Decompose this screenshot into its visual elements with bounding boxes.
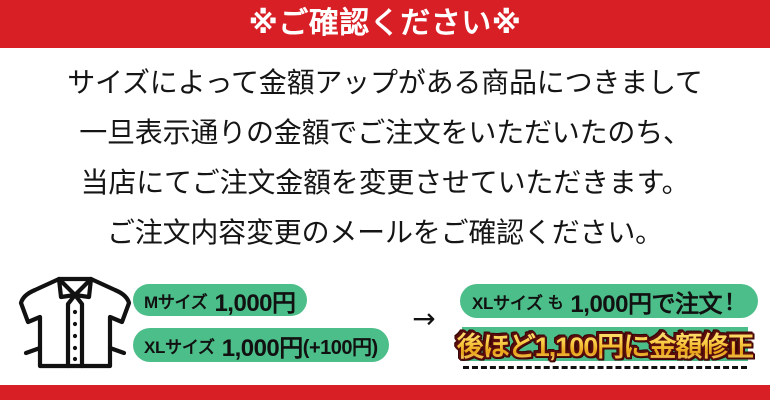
dashed-underline: [463, 366, 747, 369]
notice-line-4: ご注文内容変更のメールをご確認ください。: [0, 208, 770, 258]
dress-shirt-icon: [14, 270, 136, 378]
page-title: ※ご確認ください※: [249, 9, 522, 39]
footer-band: [0, 385, 770, 400]
xl-size-price: 1,000円: [222, 328, 303, 363]
notice-banner: ※ご確認ください※ サイズによって金額アップがある商品につきまして 一旦表示通り…: [0, 0, 770, 400]
xl-size-label: XLサイズ: [144, 333, 215, 358]
m-size-label: Mサイズ: [144, 288, 207, 313]
price-comparison: Mサイズ 1,000円 XLサイズ 1,000円 (+100円) → XLサイズ…: [0, 262, 770, 385]
order-exclamation: ！: [724, 285, 746, 317]
m-size-price: 1,000円: [214, 283, 295, 318]
notice-body: サイズによって金額アップがある商品につきまして 一旦表示通りの金額でご注文をいた…: [0, 58, 770, 258]
notice-line-1: サイズによって金額アップがある商品につきまして: [0, 58, 770, 108]
notice-line-2: 一旦表示通りの金額でご注文をいただいたのち、: [0, 108, 770, 158]
price-pill-m-size: Mサイズ 1,000円: [133, 284, 307, 316]
notice-line-3: 当店にてご注文金額を変更させていただきます。: [0, 158, 770, 208]
price-pill-xl-size: XLサイズ 1,000円 (+100円): [133, 328, 389, 362]
order-price-text: 1,000円で注文: [570, 284, 722, 319]
arrow-right-icon: →: [404, 306, 444, 332]
price-correction-text: 後ほど1,100円に金額修正: [457, 325, 754, 364]
price-correction-highlight: 後ほど1,100円に金額修正: [462, 327, 748, 361]
header-band: ※ご確認ください※: [0, 0, 770, 48]
order-xl-size-label: XLサイズ: [472, 289, 543, 314]
order-pill-xl-size: XLサイズ も 1,000円で注文 ！: [460, 284, 758, 318]
order-particle: も: [548, 289, 564, 313]
xl-size-extra: (+100円): [303, 331, 378, 360]
